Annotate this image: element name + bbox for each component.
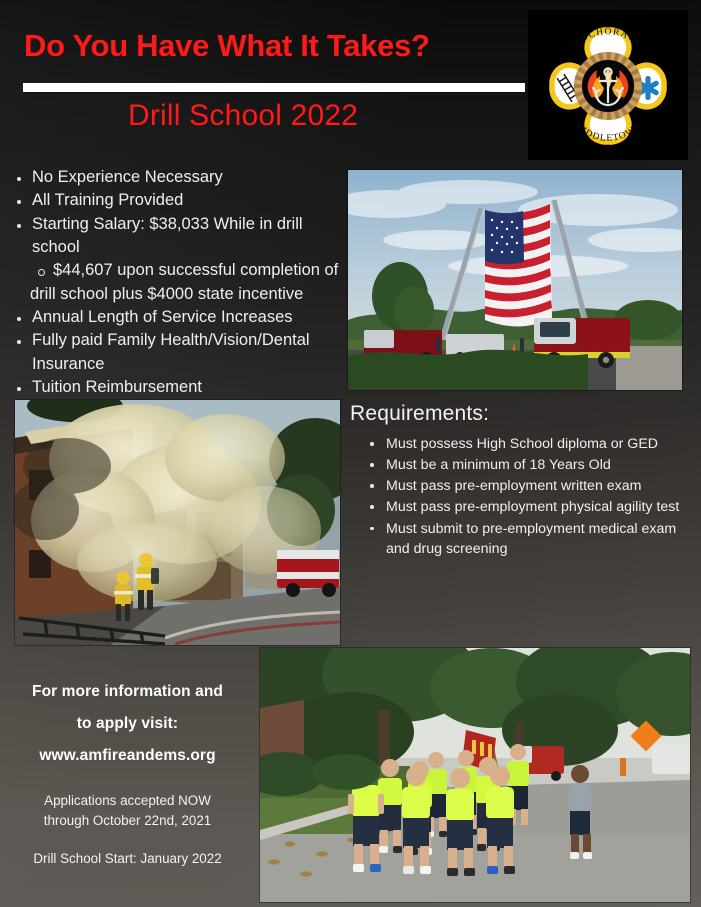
page-subtitle: Drill School 2022 <box>128 99 548 133</box>
website-link[interactable]: www.amfireandems.org <box>0 740 255 772</box>
requirements-heading: Requirements: <box>350 402 489 426</box>
drill-school-start: Drill School Start: January 2022 <box>0 851 255 866</box>
requirement-text: Must be a minimum of 18 Years Old <box>386 457 611 473</box>
list-item-sub: $44,607 upon successful completion of dr… <box>6 259 352 306</box>
benefit-text: Tuition Reimbursement <box>32 378 202 396</box>
list-item: All Training Provided <box>6 189 352 212</box>
benefit-text: All Training Provided <box>32 191 183 209</box>
list-item: Must pass pre-employment written exam <box>360 476 690 496</box>
requirement-text: Must submit to pre-employment medical ex… <box>386 521 676 557</box>
requirement-text: Must pass pre-employment written exam <box>386 478 641 494</box>
list-item: Starting Salary: $38,033 While in drill … <box>6 213 352 260</box>
photo-structure-fire <box>15 400 340 645</box>
benefit-text: No Experience Necessary <box>32 168 223 186</box>
requirement-text: Must possess High School diploma or GED <box>386 436 658 452</box>
benefit-text: Annual Length of Service Increases <box>32 308 293 326</box>
list-item: No Experience Necessary <box>6 166 352 189</box>
benefits-list: No Experience Necessary All Training Pro… <box>6 166 352 423</box>
list-item: Must submit to pre-employment medical ex… <box>360 519 690 559</box>
contact-block: For more information and to apply visit:… <box>0 676 255 866</box>
contact-line-1: For more information and <box>0 676 255 708</box>
list-item: Tuition Reimbursement <box>6 376 352 399</box>
benefit-text: $44,607 upon successful completion of <box>53 261 338 279</box>
requirements-list: Must possess High School diploma or GED … <box>360 434 690 560</box>
requirement-text: Must pass pre-employment physical agilit… <box>386 499 679 515</box>
benefit-text: Starting Salary: $38,033 While in drill … <box>32 215 303 256</box>
list-item: Fully paid Family Health/Vision/Dental I… <box>6 329 352 376</box>
list-item: Must possess High School diploma or GED <box>360 434 690 454</box>
title-divider <box>23 83 525 92</box>
list-item: Annual Length of Service Increases <box>6 306 352 329</box>
recruitment-flyer: Do You Have What It Takes? Drill School … <box>0 0 701 907</box>
application-deadline-line-1: Applications accepted NOW <box>0 791 255 810</box>
contact-line-2: to apply visit: <box>0 708 255 740</box>
application-deadline-line-2: through October 22nd, 2021 <box>0 811 255 830</box>
page-title: Do You Have What It Takes? <box>24 30 524 63</box>
photo-flag-ladder-trucks <box>348 170 682 390</box>
fire-department-badge: ANCHORAGE MIDDLETOWN <box>528 10 688 160</box>
benefit-text-wrap: drill school plus $4000 state incentive <box>6 283 352 306</box>
list-item: Must pass pre-employment physical agilit… <box>360 497 690 517</box>
benefit-text: Fully paid Family Health/Vision/Dental I… <box>32 331 310 372</box>
photo-recruit-run <box>260 648 690 902</box>
list-item: Must be a minimum of 18 Years Old <box>360 455 690 475</box>
